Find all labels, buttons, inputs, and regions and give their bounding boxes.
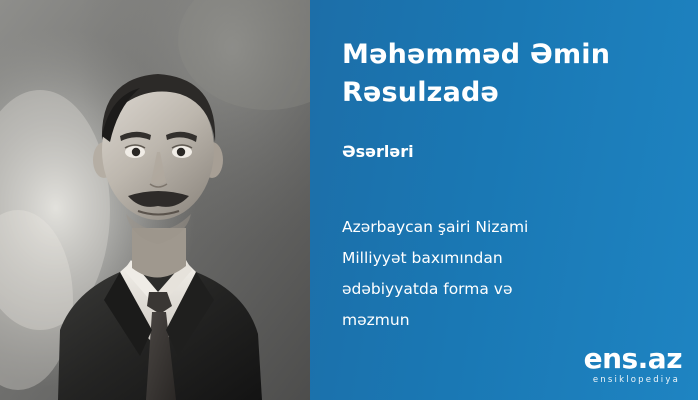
page-title-line-1: Məhəmməd Əmin	[342, 36, 680, 74]
logo-wordmark: ens.az	[584, 345, 682, 373]
page-title: Məhəmməd Əmin Rəsulzadə	[342, 36, 680, 112]
works-list-item: məzmun	[342, 305, 680, 336]
page-subtitle: Əsərləri	[342, 142, 414, 162]
logo-tagline: ensiklopediya	[584, 374, 680, 386]
works-list-item: Azərbaycan şairi Nizami	[342, 212, 680, 243]
works-list-item: ədəbiyyatda forma və	[342, 274, 680, 305]
text-panel: Məhəmməd Əmin Rəsulzadə Əsərləri Azərbay…	[310, 0, 698, 400]
portrait-photo-image	[0, 0, 310, 400]
portrait-photo	[0, 0, 310, 400]
ens-az-logo[interactable]: ens.az ensiklopediya	[584, 345, 682, 386]
page-title-line-2: Rəsulzadə	[342, 74, 680, 112]
works-list: Azərbaycan şairi Nizami Milliyyət baxımı…	[342, 212, 680, 336]
works-list-item: Milliyyət baxımından	[342, 243, 680, 274]
encyclopedia-banner-card: Məhəmməd Əmin Rəsulzadə Əsərləri Azərbay…	[0, 0, 698, 400]
